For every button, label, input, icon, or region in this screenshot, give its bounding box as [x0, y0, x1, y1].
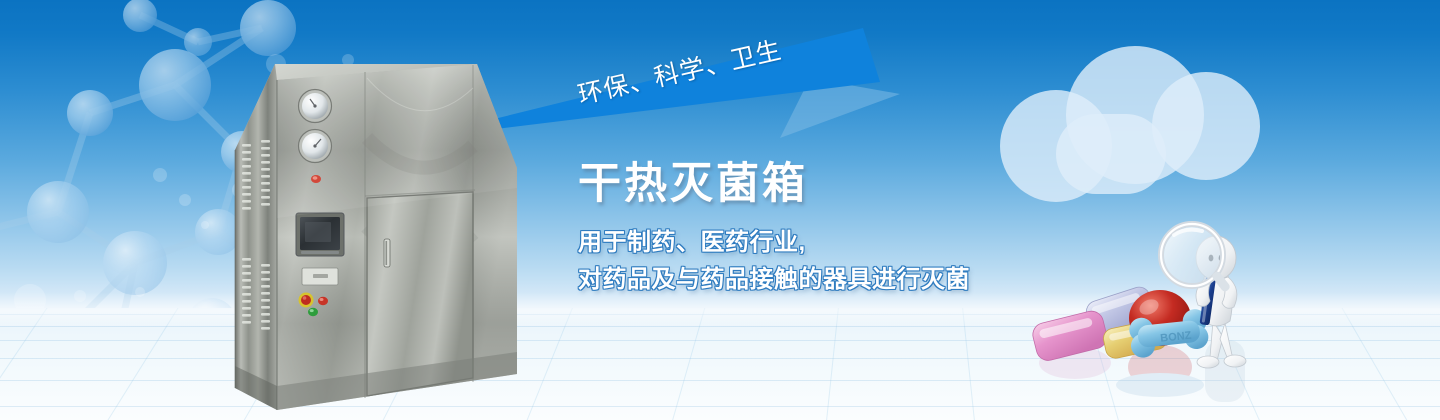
promo-banner: 环保、科学、卫生 — [0, 0, 1440, 420]
subtitle-line-2: 对药品及与药品接触的器具进行灭菌 — [578, 262, 1058, 298]
subtitle-block: 用于制药、医药行业, 对药品及与药品接触的器具进行灭菌 — [578, 207, 1058, 298]
dry-heat-sterilizer-cabinet — [215, 18, 535, 418]
red-alarm-button — [318, 297, 328, 305]
nameplate-label — [302, 268, 338, 285]
magnifying-glass-icon — [1161, 224, 1231, 293]
emergency-stop-button — [299, 293, 314, 308]
subtitle-line-1: 用于制药、医药行业, — [578, 225, 1058, 261]
green-start-button — [308, 308, 318, 316]
hmi-touchscreen — [296, 213, 344, 256]
inspector-scene: BONZ — [1020, 215, 1320, 420]
ribbon-shape — [480, 20, 900, 160]
headline-block: 干热灭菌箱 用于制药、医药行业, 对药品及与药品接触的器具进行灭菌 — [578, 162, 1058, 298]
door-handle — [384, 239, 390, 267]
tagline-ribbon: 环保、科学、卫生 — [480, 20, 900, 160]
page-title: 干热灭菌箱 — [578, 162, 1058, 207]
